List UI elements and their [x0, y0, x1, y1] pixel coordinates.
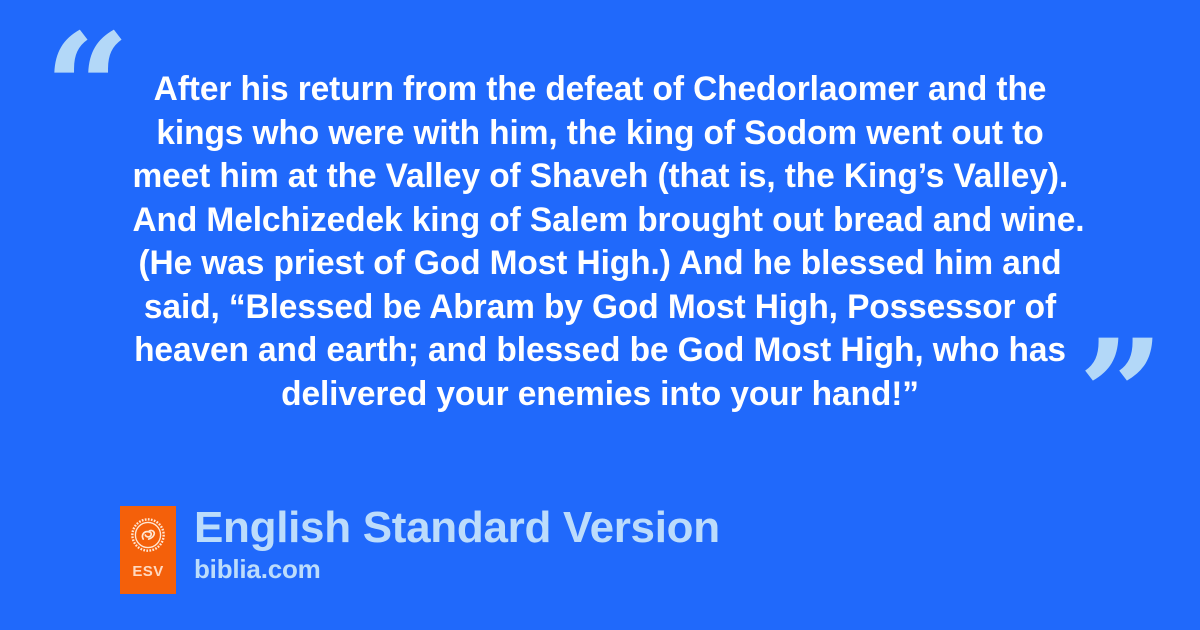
esv-logo: ESV — [120, 506, 176, 594]
verse-line: (He was priest of God Most High.) And he… — [132, 242, 1067, 286]
esv-seal-icon — [131, 518, 165, 552]
attribution: ESV English Standard Version biblia.com — [120, 506, 720, 594]
verse-line: said, “Blessed be Abram by God Most High… — [132, 286, 1067, 330]
attribution-text: English Standard Version biblia.com — [194, 506, 720, 584]
verse-line: kings who were with him, the king of Sod… — [132, 112, 1067, 156]
verse-line: delivered your enemies into your hand!” — [132, 373, 1067, 417]
verse-text-block: After his return from the defeat of Ched… — [118, 68, 1082, 416]
verse-line: meet him at the Valley of Shaveh (that i… — [132, 155, 1067, 199]
verse-line: heaven and earth; and blessed be God Mos… — [132, 329, 1067, 373]
verse-line: After his return from the defeat of Ched… — [132, 68, 1067, 112]
verse-line: And Melchizedek king of Salem brought ou… — [132, 199, 1067, 243]
site-name: biblia.com — [194, 554, 720, 584]
bible-version-name: English Standard Version — [194, 504, 720, 552]
esv-logo-label: ESV — [132, 564, 163, 579]
verse-image-card: “ After his return from the defeat of Ch… — [0, 0, 1200, 630]
closing-quote-icon: ” — [1078, 320, 1164, 470]
